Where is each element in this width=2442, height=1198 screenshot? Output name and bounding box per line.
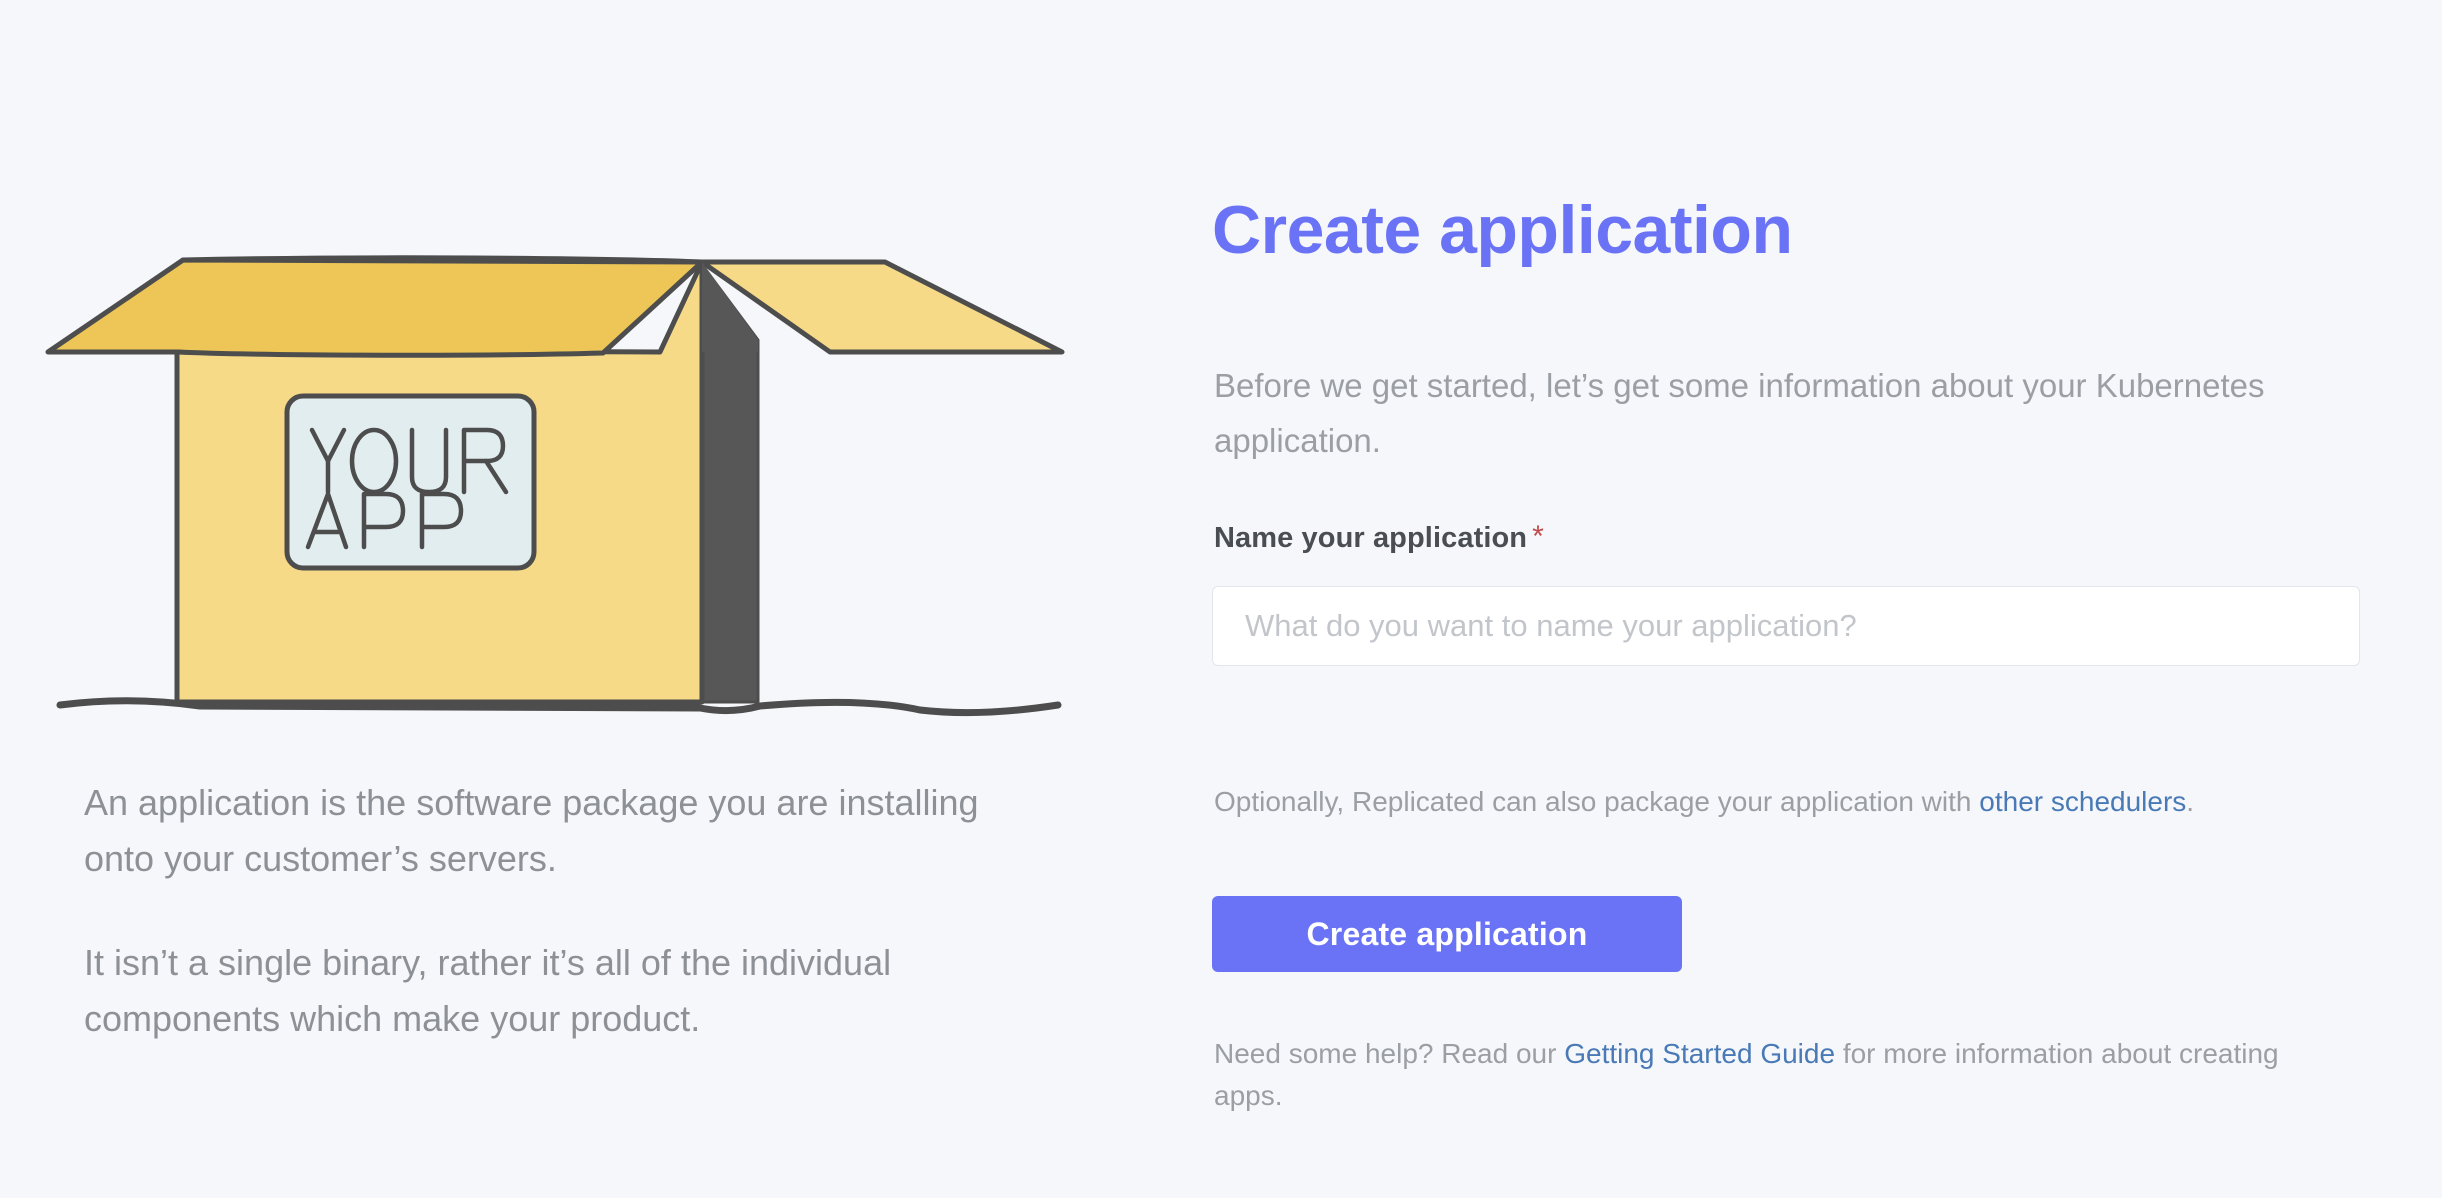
required-asterisk: * bbox=[1532, 520, 1544, 553]
form-subtitle: Before we get started, let’s get some in… bbox=[1214, 358, 2344, 468]
create-application-form: Create application Before we get started… bbox=[1212, 0, 2372, 1198]
left-paragraph-2: It isn’t a single binary, rather it’s al… bbox=[84, 935, 1014, 1047]
left-paragraph-1: An application is the software package y… bbox=[84, 775, 1014, 887]
getting-started-guide-link[interactable]: Getting Started Guide bbox=[1564, 1038, 1835, 1069]
create-application-button[interactable]: Create application bbox=[1212, 896, 1682, 972]
name-field-label-text: Name your application bbox=[1214, 522, 1527, 554]
application-name-input[interactable] bbox=[1212, 586, 2360, 666]
box-flap-left bbox=[48, 260, 702, 355]
name-field-label: Name your application* bbox=[1214, 520, 1544, 555]
create-application-page: An application is the software package y… bbox=[0, 0, 2442, 1198]
cardboard-box-illustration bbox=[40, 180, 1070, 745]
page-title: Create application bbox=[1212, 196, 1793, 264]
optional-note-suffix: . bbox=[2186, 786, 2194, 817]
left-description: An application is the software package y… bbox=[84, 775, 1014, 1047]
left-info-column: An application is the software package y… bbox=[0, 0, 1120, 1198]
optional-schedulers-note: Optionally, Replicated can also package … bbox=[1214, 785, 2194, 819]
help-note-prefix: Need some help? Read our bbox=[1214, 1038, 1564, 1069]
optional-note-prefix: Optionally, Replicated can also package … bbox=[1214, 786, 1979, 817]
other-schedulers-link[interactable]: other schedulers bbox=[1979, 786, 2186, 817]
help-note: Need some help? Read our Getting Started… bbox=[1214, 1033, 2354, 1117]
